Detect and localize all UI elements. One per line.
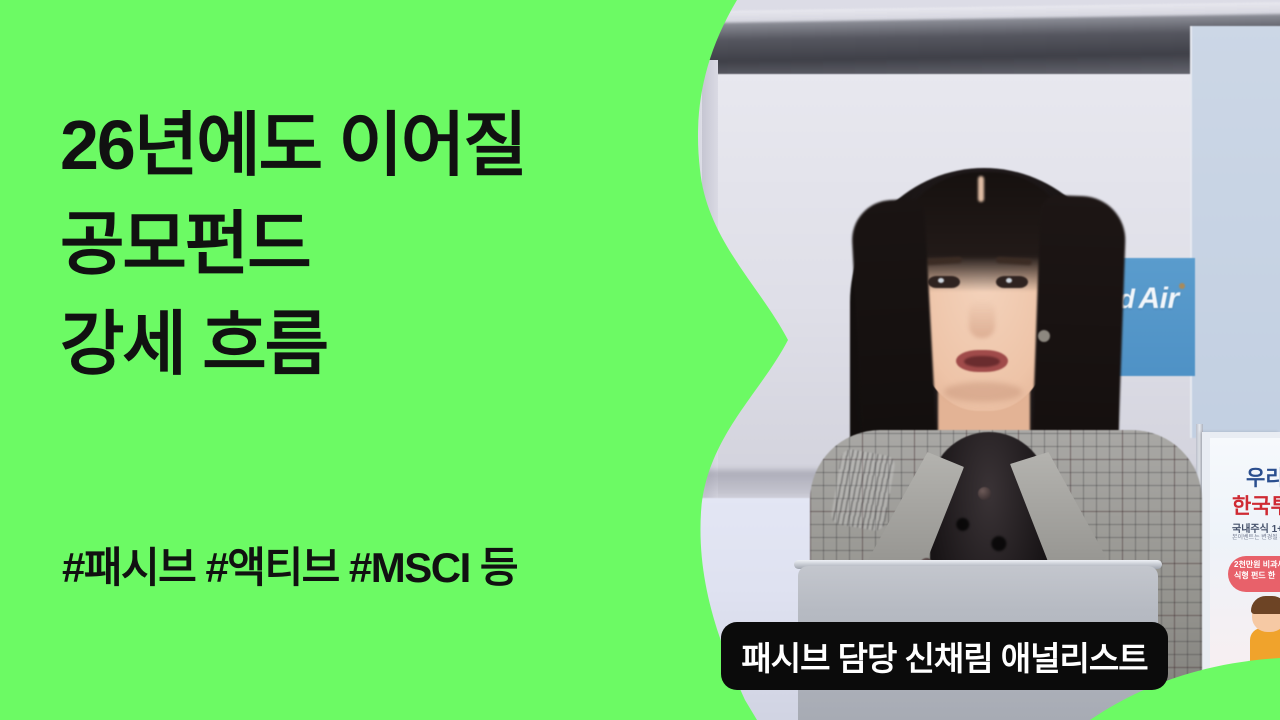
chin-shadow <box>944 382 1022 402</box>
eye-left <box>928 276 960 288</box>
headline-line-3: 강세 흐름 <box>60 295 660 394</box>
hashtag-line: #패시브 #액티브 #MSCI 등 <box>62 534 517 595</box>
jacket-button <box>978 487 991 500</box>
thumbnail-canvas: endAir 우리 한국투 국내주식 1+1 본이벤트는 변경될 수 있습니다 … <box>0 0 1280 720</box>
speaker-caption-badge: 패시브 담당 신채림 애널리스트 <box>721 622 1168 690</box>
eye-highlight-right <box>1006 278 1012 283</box>
page-title: 26년에도 이어질 공모펀드 강세 흐름 <box>60 96 660 394</box>
headline-line-2: 공모펀드 <box>60 195 660 294</box>
eye-right <box>996 276 1028 288</box>
person-portrait: notebook <box>690 0 1280 720</box>
nose <box>969 300 995 338</box>
lapel-microphone <box>1038 330 1050 342</box>
speaker-caption-text: 패시브 담당 신채림 애널리스트 <box>741 632 1147 680</box>
mouth-inner <box>964 356 1000 367</box>
hair-part <box>978 176 984 202</box>
headline-line-1: 26년에도 이어질 <box>60 96 660 195</box>
eye-highlight-left <box>938 278 944 283</box>
